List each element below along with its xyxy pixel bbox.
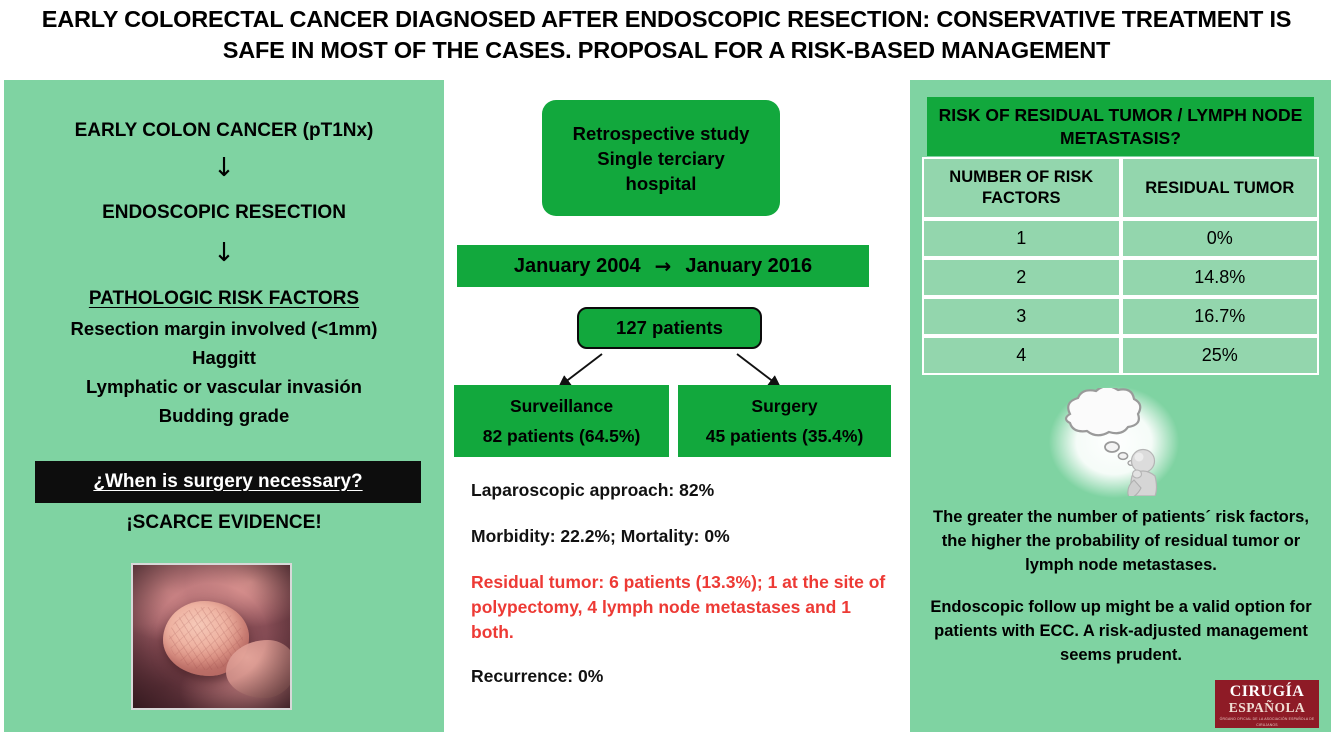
result-laparoscopic: Laparoscopic approach: 82%: [471, 478, 895, 503]
arrow-right-icon: →: [641, 254, 686, 278]
list-item: Budding grade: [4, 401, 444, 430]
journal-logo-line-2: ESPAÑOLA: [1215, 700, 1319, 715]
pathologic-risk-factors-heading: PATHOLOGIC RISK FACTORS: [4, 288, 444, 310]
cell-residual-tumor: 0%: [1121, 219, 1320, 258]
thinking-person-graphic: [1050, 388, 1178, 496]
list-item: Lymphatic or vascular invasión: [4, 372, 444, 401]
risk-table: NUMBER OF RISK FACTORS RESIDUAL TUMOR 1 …: [922, 157, 1319, 375]
surveillance-value: 82 patients (64.5%): [483, 421, 641, 451]
photo-vignette-layer: [133, 565, 290, 708]
surgery-question-label: ¿When is surgery necessary?: [93, 471, 362, 493]
cell-risk-factors: 2: [922, 258, 1121, 297]
table-row: 4 25%: [922, 336, 1319, 375]
result-recurrence: Recurrence: 0%: [471, 664, 895, 689]
date-to-label: January 2016: [685, 255, 812, 278]
conclusion-2: Endoscopic follow up might be a valid op…: [922, 595, 1320, 667]
cell-residual-tumor: 16.7%: [1121, 297, 1320, 336]
thinking-person-icon: [1050, 388, 1178, 496]
pathologic-risk-factors-label: PATHOLOGIC RISK FACTORS: [89, 288, 359, 309]
cell-risk-factors: 4: [922, 336, 1121, 375]
journal-logo: CIRUGÍA ESPAÑOLA ÓRGANO OFICIAL DE LA AS…: [1215, 680, 1319, 728]
conclusion-1: The greater the number of patients´ risk…: [922, 505, 1320, 577]
early-colon-cancer-heading: EARLY COLON CANCER (pT1Nx): [4, 120, 444, 142]
surveillance-label: Surveillance: [510, 391, 613, 421]
surgery-label: Surgery: [751, 391, 817, 421]
conclusions-block: The greater the number of patients´ risk…: [922, 505, 1320, 667]
right-panel: RISK OF RESIDUAL TUMOR / LYMPH NODE META…: [910, 80, 1331, 732]
table-row: 3 16.7%: [922, 297, 1319, 336]
endoscopic-resection-step: ENDOSCOPIC RESECTION: [4, 202, 444, 224]
journal-logo-subtitle: ÓRGANO OFICIAL DE LA ASOCIACIÓN ESPAÑOLA…: [1215, 716, 1319, 728]
table-row: 2 14.8%: [922, 258, 1319, 297]
middle-panel: Retrospective study Single terciary hosp…: [452, 80, 904, 732]
cell-risk-factors: 1: [922, 219, 1121, 258]
arrow-down-icon: ↓: [4, 240, 444, 266]
surgery-box: Surgery 45 patients (35.4%): [678, 385, 891, 457]
page-title: EARLY COLORECTAL CANCER DIAGNOSED AFTER …: [0, 0, 1333, 72]
risk-question-header: RISK OF RESIDUAL TUMOR / LYMPH NODE META…: [927, 97, 1314, 156]
cell-risk-factors: 3: [922, 297, 1121, 336]
list-item: Haggitt: [4, 343, 444, 372]
surgery-value: 45 patients (35.4%): [706, 421, 864, 451]
study-design-line-3: hospital: [573, 171, 750, 196]
risk-factors-list: Resection margin involved (<1mm) Haggitt…: [4, 314, 444, 430]
results-list: Laparoscopic approach: 82% Morbidity: 22…: [471, 478, 895, 689]
result-residual-tumor: Residual tumor: 6 patients (13.3%); 1 at…: [471, 570, 895, 645]
endoscopy-photo: [131, 563, 292, 710]
journal-logo-line-1: CIRUGÍA: [1215, 684, 1319, 700]
list-item: Resection margin involved (<1mm): [4, 314, 444, 343]
surgery-question-banner: ¿When is surgery necessary?: [35, 461, 421, 503]
cell-residual-tumor: 14.8%: [1121, 258, 1320, 297]
surveillance-box: Surveillance 82 patients (64.5%): [454, 385, 669, 457]
arrow-down-icon: ↓: [4, 155, 444, 181]
column-header-residual-tumor: RESIDUAL TUMOR: [1121, 157, 1320, 219]
cell-residual-tumor: 25%: [1121, 336, 1320, 375]
date-from-label: January 2004: [514, 255, 641, 278]
table-row: 1 0%: [922, 219, 1319, 258]
table-header-row: NUMBER OF RISK FACTORS RESIDUAL TUMOR: [922, 157, 1319, 219]
study-design-line-1: Retrospective study: [573, 121, 750, 146]
left-panel: EARLY COLON CANCER (pT1Nx) ↓ ENDOSCOPIC …: [4, 80, 444, 732]
result-morbidity-mortality: Morbidity: 22.2%; Mortality: 0%: [471, 524, 895, 549]
study-design-line-2: Single terciary: [573, 146, 750, 171]
date-range-bar: January 2004 → January 2016: [457, 245, 869, 287]
study-design-box: Retrospective study Single terciary hosp…: [542, 100, 780, 216]
scarce-evidence-label: ¡SCARCE EVIDENCE!: [4, 512, 444, 534]
cohort-label: 127 patients: [616, 317, 723, 339]
column-header-risk-factors: NUMBER OF RISK FACTORS: [922, 157, 1121, 219]
